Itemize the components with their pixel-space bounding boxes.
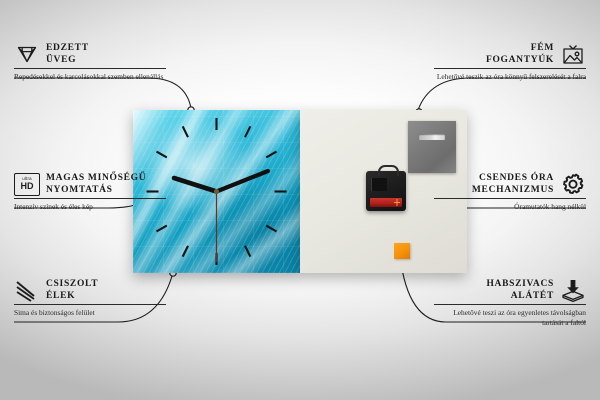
clock-minute-hand: [217, 171, 269, 192]
hanger-slot: [419, 134, 445, 140]
feature-header: CSENDES ÓRA MECHANIZMUS: [434, 172, 586, 196]
ultra-hd-large-text: HD: [21, 182, 34, 191]
feature-divider: [434, 68, 586, 69]
feature-header: HABSZIVACS ALÁTÉT: [434, 278, 586, 302]
feature-polished-edges: CSISZOLT ÉLEK Sima és biztonságos felüle…: [14, 278, 166, 318]
foam-pad: [394, 243, 410, 259]
feature-title: MAGAS MINŐSÉGŰ NYOMTATÁS: [46, 172, 146, 196]
feature-description: Sima és biztonságos felület: [14, 308, 166, 318]
clock-hour-hand: [174, 178, 217, 192]
feature-metal-hangers: FÉM FOGANTYÚK Lehetővé teszik az óra kön…: [434, 42, 586, 82]
feature-header: ultra HD MAGAS MINŐSÉGŰ NYOMTATÁS: [14, 172, 166, 196]
clock-center-cap: [214, 189, 219, 194]
feature-header: EDZETT ÜVEG: [14, 42, 166, 66]
feature-title: EDZETT ÜVEG: [46, 42, 89, 66]
mechanism-groove: [371, 178, 387, 191]
connector-metal-hangers: [418, 78, 586, 110]
feature-description: Lehetővé teszi az óra egyenletes távolsá…: [434, 308, 586, 327]
feature-description: Intenzív színek és éles kép: [14, 202, 166, 212]
feature-description: Lehetővé teszik az óra könnyű felszerelé…: [434, 72, 586, 82]
feature-description: Repedésekkel és karcolásokkal szemben el…: [14, 72, 166, 82]
feature-divider: [14, 198, 166, 199]
feature-title: CSENDES ÓRA MECHANIZMUS: [472, 172, 554, 196]
feature-title: HABSZIVACS ALÁTÉT: [486, 278, 554, 302]
feature-foam-pad: HABSZIVACS ALÁTÉT Lehetővé teszi az óra …: [434, 278, 586, 327]
feature-hd-print: ultra HD MAGAS MINŐSÉGŰ NYOMTATÁS Intenz…: [14, 172, 166, 212]
feature-title: CSISZOLT ÉLEK: [46, 278, 98, 302]
infographic-stage: EDZETT ÜVEG Repedésekkel és karcolásokka…: [0, 0, 600, 400]
feature-header: FÉM FOGANTYÚK: [434, 42, 586, 66]
feature-divider: [434, 198, 586, 199]
diamond-icon: [14, 42, 40, 66]
feature-tempered-glass: EDZETT ÜVEG Repedésekkel és karcolásokka…: [14, 42, 166, 82]
feature-title: FÉM FOGANTYÚK: [486, 42, 554, 66]
feature-divider: [14, 304, 166, 305]
arrow-down-pad-icon: [560, 278, 586, 302]
gear-icon: [560, 172, 586, 196]
metal-hanger-plate: [408, 121, 456, 173]
feature-header: CSISZOLT ÉLEK: [14, 278, 166, 302]
ultra-hd-badge-icon: ultra HD: [14, 172, 40, 196]
connector-tempered-glass: [14, 78, 191, 108]
feature-divider: [14, 68, 166, 69]
picture-hanger-icon: [560, 42, 586, 66]
clock-mechanism: [366, 171, 406, 211]
mechanism-hanging-loop: [378, 165, 399, 176]
feature-silent-movement: CSENDES ÓRA MECHANIZMUS Óramutatók hang …: [434, 172, 586, 212]
diagonal-lines-icon: [14, 278, 40, 302]
battery: [370, 198, 402, 207]
feature-divider: [434, 304, 586, 305]
feature-description: Óramutatók hang nélkül: [434, 202, 586, 212]
